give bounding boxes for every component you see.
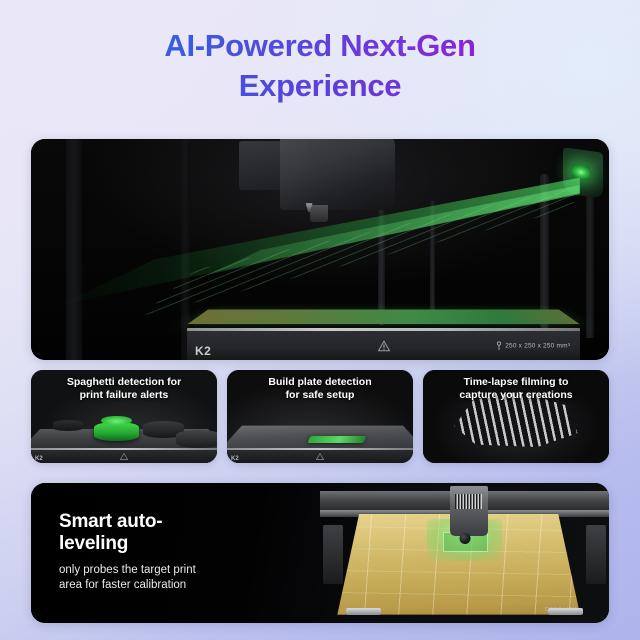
printer-frame-pillar: [66, 139, 82, 360]
bed-bracket: [323, 525, 343, 584]
build-volume-spec: 250 x 250 x 250 mm³: [496, 341, 570, 350]
printer-frame-pillar: [181, 139, 190, 360]
card-caption-line-2: for safe setup: [286, 389, 355, 401]
page-title: AI-Powered Next-Gen Experience: [0, 26, 640, 105]
build-volume-text: 250 x 250 x 250 mm³: [505, 342, 570, 349]
panel-title-line-1: Smart auto-: [59, 511, 162, 532]
green-printed-part: [94, 422, 139, 441]
card-caption-line-1: Build plate detection: [268, 376, 371, 388]
print-head-assembly: [280, 139, 396, 210]
panel-text-block: Smart auto- leveling only probes the tar…: [59, 511, 196, 594]
printer-model-label: K2: [195, 344, 211, 358]
print-bed-front-bar: K2: [227, 450, 413, 463]
warning-triangle-icon: [316, 453, 324, 460]
printer-model-label: K2: [231, 456, 239, 462]
card-caption: Time-lapse filming to capture your creat…: [423, 376, 609, 402]
bed-clip: [346, 608, 381, 615]
brand-mark: CREALITY: [545, 607, 577, 613]
warning-triangle-icon: [120, 453, 128, 460]
promo-page: AI-Powered Next-Gen Experience K2: [0, 0, 640, 640]
panel-subtitle-line-1: only probes the target print: [59, 564, 196, 576]
feature-card-build-plate-detection[interactable]: K2 Build plate detection for safe setup: [227, 370, 413, 463]
page-title-line-2: Experience: [0, 66, 640, 106]
feature-card-spaghetti-detection[interactable]: K2 Spaghetti detection for print failure…: [31, 370, 217, 463]
filament-spool: [53, 420, 83, 431]
panel-subtitle-line-2: area for faster calibration: [59, 579, 186, 591]
card-caption-line-2: print failure alerts: [80, 389, 169, 401]
filament-spool: [176, 430, 217, 449]
panel-title: Smart auto- leveling: [59, 511, 196, 556]
card-caption-line-1: Spaghetti detection for: [67, 376, 181, 388]
print-bed-front-bar: K2 250 x 250 x 250 mm³: [187, 331, 580, 360]
page-title-line-1: AI-Powered Next-Gen: [0, 26, 640, 66]
build-height-icon: [496, 341, 502, 350]
card-caption: Build plate detection for safe setup: [227, 376, 413, 402]
warning-triangle-icon: [378, 341, 390, 352]
panel-subtitle: only probes the target print area for fa…: [59, 563, 196, 594]
hero-panel: K2 250 x 250 x 250 mm³: [31, 139, 609, 360]
card-caption-line-2: capture your creations: [459, 389, 572, 401]
green-printed-part: [307, 436, 366, 443]
printer-model-label: K2: [35, 456, 43, 462]
feature-card-list: K2 Spaghetti detection for print failure…: [31, 370, 609, 463]
card-caption-line-1: Time-lapse filming to: [464, 376, 569, 388]
feature-card-time-lapse[interactable]: Time-lapse filming to capture your creat…: [423, 370, 609, 463]
panel-title-line-2: leveling: [59, 533, 128, 554]
panel-photo: CREALITY: [320, 483, 609, 623]
leveling-probe-icon: [459, 533, 470, 544]
print-bed-front-bar: K2: [31, 450, 217, 463]
bed-bracket: [586, 525, 606, 584]
card-caption: Spaghetti detection for print failure al…: [31, 376, 217, 402]
smart-auto-leveling-panel: Smart auto- leveling only probes the tar…: [31, 483, 609, 623]
print-head-carriage: [450, 486, 488, 536]
